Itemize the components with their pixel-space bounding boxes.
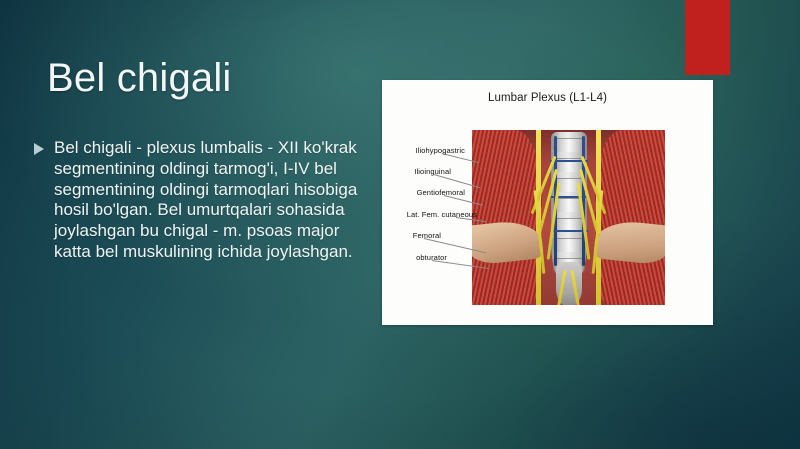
label-iliohypogastric: Iliohypogastric	[416, 146, 465, 155]
label-femoral: Femoral	[413, 231, 441, 240]
figure-caption: Lumbar Plexus (L1-L4)	[382, 92, 713, 104]
body-content: Bel chigali - plexus lumbalis - XII ko'k…	[34, 138, 364, 263]
bullet-text: Bel chigali - plexus lumbalis - XII ko'k…	[54, 138, 364, 263]
label-obturator: obturator	[416, 253, 447, 262]
label-ilioinguinal: Ilioinguinal	[414, 167, 451, 176]
label-lat-fem-cutaneous: Lat. Fem. cutaneous	[407, 210, 477, 219]
triangle-right-icon	[34, 143, 44, 155]
bullet-item: Bel chigali - plexus lumbalis - XII ko'k…	[34, 138, 364, 263]
figure-panel: Lumbar Plexus (L1-L4)	[382, 80, 713, 325]
red-accent-bar	[685, 0, 730, 75]
psoas-muscle-right	[595, 130, 665, 305]
presentation-slide: Bel chigali Bel chigali - plexus lumbali…	[0, 0, 800, 449]
slide-title: Bel chigali	[47, 55, 232, 101]
psoas-muscle-left	[472, 130, 542, 305]
bullet-marker	[34, 138, 54, 155]
lumbar-plexus-illustration	[472, 130, 665, 305]
label-gentiofemoral: Gentiofemoral	[417, 188, 465, 197]
